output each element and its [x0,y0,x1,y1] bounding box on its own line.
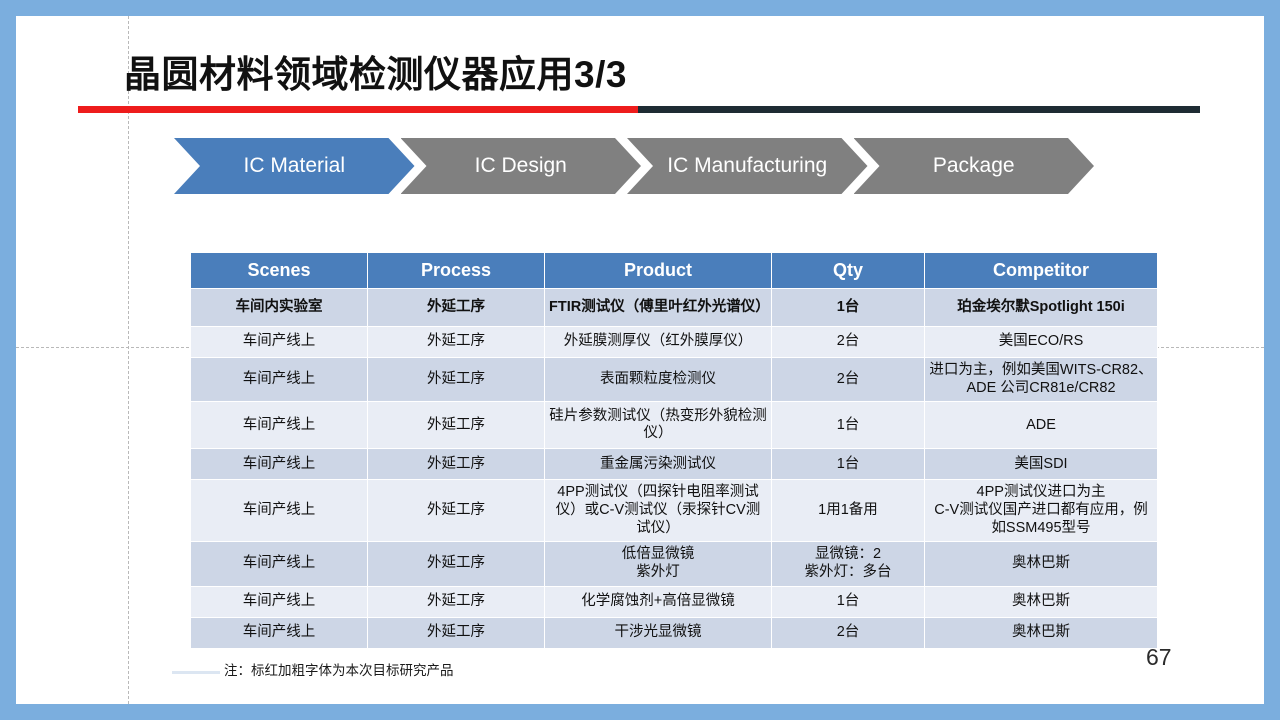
cell-process: 外延工序 [368,358,545,402]
title-rule-dark-segment [638,106,1200,113]
cell-scenes: 车间产线上 [191,449,368,480]
table-row: 车间产线上外延工序硅片参数测试仪（热变形外貌检测仪）1台ADE [191,402,1158,449]
title-underline-rule [78,106,1200,113]
cell-scenes: 车间产线上 [191,402,368,449]
process-step-label: Package [925,155,1023,177]
cell-product: 表面颗粒度检测仪 [545,358,772,402]
cell-product: 外延膜测厚仪（红外膜厚仪） [545,327,772,358]
column-header-scenes[interactable]: Scenes [191,253,368,289]
cell-qty: 1台 [772,402,925,449]
cell-scenes: 车间产线上 [191,617,368,648]
cell-product: 干涉光显微镜 [545,617,772,648]
table-row: 车间产线上外延工序重金属污染测试仪1台美国SDI [191,449,1158,480]
process-step-label: IC Design [467,155,575,177]
table-row: 车间产线上外延工序低倍显微镜紫外灯显微镜：2紫外灯：多台奥林巴斯 [191,542,1158,586]
slide-canvas: 晶圆材料领域检测仪器应用3/3 IC MaterialIC DesignIC M… [16,16,1264,704]
cell-product: 重金属污染测试仪 [545,449,772,480]
cell-competitor: ADE [925,402,1158,449]
process-step-label: IC Material [235,155,353,177]
cell-qty: 2台 [772,358,925,402]
table-row: 车间产线上外延工序干涉光显微镜2台奥林巴斯 [191,617,1158,648]
cell-scenes: 车间产线上 [191,480,368,542]
note-underline [172,671,220,674]
cell-process: 外延工序 [368,327,545,358]
cell-competitor: 奥林巴斯 [925,542,1158,586]
instrument-application-table: ScenesProcessProductQtyCompetitor 车间内实验室… [190,252,1158,649]
cell-process: 外延工序 [368,480,545,542]
cell-qty: 2台 [772,617,925,648]
cell-qty: 显微镜：2紫外灯：多台 [772,542,925,586]
process-step-ic-design[interactable]: IC Design [401,138,642,194]
column-header-competitor[interactable]: Competitor [925,253,1158,289]
cell-scenes: 车间内实验室 [191,289,368,327]
cell-process: 外延工序 [368,542,545,586]
table-body: 车间内实验室外延工序FTIR测试仪（傅里叶红外光谱仪）1台珀金埃尔默Spotli… [191,289,1158,649]
table-row: 车间内实验室外延工序FTIR测试仪（傅里叶红外光谱仪）1台珀金埃尔默Spotli… [191,289,1158,327]
process-step-ic-manufacturing[interactable]: IC Manufacturing [627,138,868,194]
cell-qty: 2台 [772,327,925,358]
cell-process: 外延工序 [368,586,545,617]
table-row: 车间产线上外延工序表面颗粒度检测仪2台进口为主，例如美国WITS-CR82、AD… [191,358,1158,402]
column-header-process[interactable]: Process [368,253,545,289]
process-step-ic-material[interactable]: IC Material [174,138,415,194]
guide-line-vertical [128,16,129,704]
title-rule-red-segment [78,106,638,113]
process-step-package[interactable]: Package [854,138,1095,194]
process-step-label: IC Manufacturing [659,155,835,177]
cell-product: 4PP测试仪（四探针电阻率测试仪）或C-V测试仪（汞探针CV测试仪） [545,480,772,542]
cell-competitor: 4PP测试仪进口为主C-V测试仪国产进口都有应用，例如SSM495型号 [925,480,1158,542]
cell-process: 外延工序 [368,449,545,480]
table-row: 车间产线上外延工序4PP测试仪（四探针电阻率测试仪）或C-V测试仪（汞探针CV测… [191,480,1158,542]
cell-competitor: 奥林巴斯 [925,586,1158,617]
column-header-product[interactable]: Product [545,253,772,289]
process-flow: IC MaterialIC DesignIC ManufacturingPack… [174,138,1094,194]
page-number: 67 [1146,644,1172,671]
table-row: 车间产线上外延工序外延膜测厚仪（红外膜厚仪）2台美国ECO/RS [191,327,1158,358]
cell-qty: 1台 [772,289,925,327]
cell-competitor: 美国SDI [925,449,1158,480]
cell-process: 外延工序 [368,617,545,648]
table-header-row: ScenesProcessProductQtyCompetitor [191,253,1158,289]
column-header-qty[interactable]: Qty [772,253,925,289]
page-title: 晶圆材料领域检测仪器应用3/3 [124,44,627,98]
cell-product: 硅片参数测试仪（热变形外貌检测仪） [545,402,772,449]
cell-competitor: 珀金埃尔默Spotlight 150i [925,289,1158,327]
cell-competitor: 进口为主，例如美国WITS-CR82、ADE 公司CR81e/CR82 [925,358,1158,402]
cell-product: FTIR测试仪（傅里叶红外光谱仪） [545,289,772,327]
cell-product: 化学腐蚀剂+高倍显微镜 [545,586,772,617]
cell-scenes: 车间产线上 [191,542,368,586]
cell-scenes: 车间产线上 [191,327,368,358]
footer-note: 注：标红加粗字体为本次目标研究产品 [224,659,454,679]
cell-qty: 1用1备用 [772,480,925,542]
cell-scenes: 车间产线上 [191,586,368,617]
cell-process: 外延工序 [368,289,545,327]
cell-process: 外延工序 [368,402,545,449]
cell-competitor: 奥林巴斯 [925,617,1158,648]
cell-qty: 1台 [772,586,925,617]
table-row: 车间产线上外延工序化学腐蚀剂+高倍显微镜1台奥林巴斯 [191,586,1158,617]
cell-scenes: 车间产线上 [191,358,368,402]
cell-qty: 1台 [772,449,925,480]
cell-competitor: 美国ECO/RS [925,327,1158,358]
cell-product: 低倍显微镜紫外灯 [545,542,772,586]
